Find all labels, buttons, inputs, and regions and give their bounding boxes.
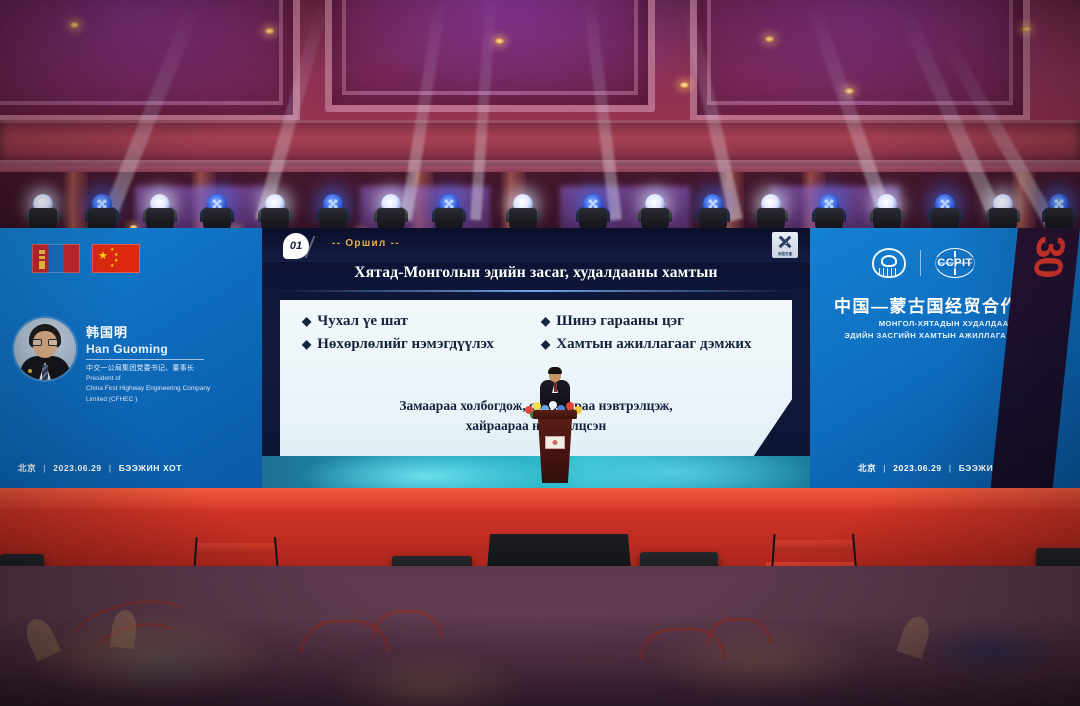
ceiling-coffer <box>0 0 300 122</box>
slide-header: 01 -- Оршил -- 中国交建 <box>262 228 810 262</box>
bullet-label: Хамтын ажиллагааг дэмжих <box>556 335 751 354</box>
conference-stage-photo: ★ ★ ★ ★ ★ 韩国明 <box>0 0 1080 706</box>
diamond-icon: ◆ <box>302 335 311 354</box>
left-datebar: 北京 | 2023.06.29 | БЭЭЖИН ХОТ <box>18 462 182 474</box>
speaker-avatar <box>14 318 76 380</box>
moving-head-light-row <box>0 182 1080 230</box>
glasses-icon <box>32 339 58 346</box>
datebar-separator: | <box>883 463 886 473</box>
bullet-item: ◆ Хамтын ажиллагааг дэмжих <box>541 335 770 354</box>
speaker-portrait-block: 韩国明 Han Guoming 中交一公局集团党委书记、董事长 Presiden… <box>14 318 210 404</box>
cccc-logo-icon: 中国交建 <box>772 232 798 258</box>
speaker-name-en: Han Guoming <box>86 342 210 356</box>
speaker-title-en-1: President of <box>86 374 210 383</box>
title-underline <box>276 290 796 292</box>
ceiling-coffer <box>690 0 1030 122</box>
logo-divider <box>920 250 921 276</box>
speaker-title-cn: 中交一公局集团党委书记、董事长 <box>86 363 210 373</box>
section-kicker: -- Оршил -- <box>332 238 400 249</box>
podium-emblem-plaque <box>545 436 565 449</box>
bullet-label: Чухал үе шат <box>317 312 408 331</box>
datebar-city-cn: 北京 <box>858 462 876 474</box>
datebar-city-mn: БЭЭЖИН ХОТ <box>119 463 182 473</box>
speaker-title-en-2: China First Highway Engineering Company <box>86 384 210 393</box>
datebar-separator: | <box>43 463 46 473</box>
speaker-title-en-3: Limited (CFHEC ) <box>86 395 210 404</box>
diamond-icon: ◆ <box>302 312 311 331</box>
datebar-date: 2023.06.29 <box>53 463 102 473</box>
ccpit-wordmark: CCPIT <box>935 257 975 269</box>
datebar-city-cn: 北京 <box>18 462 36 474</box>
panel-edge-decoration: 30 <box>990 228 1080 490</box>
slide-title: Хятад-Монголын эдийн засаг, худалдааны х… <box>262 264 810 282</box>
china-flag-icon: ★ ★ ★ ★ ★ <box>92 244 140 273</box>
bullet-list: ◆ Чухал үе шат ◆ Шинэ гарааны цэг ◆ Нөхө… <box>302 312 770 354</box>
flag-pair: ★ ★ ★ ★ ★ <box>32 244 140 273</box>
speaking-podium <box>533 394 577 500</box>
divider <box>86 359 204 360</box>
bullet-item: ◆ Нөхөрлөлийг нэмэгдүүлэх <box>302 335 531 354</box>
bullet-item: ◆ Шинэ гарааны цэг <box>541 312 770 331</box>
diamond-icon: ◆ <box>541 335 550 354</box>
ballroom-carpet <box>0 566 1080 706</box>
datebar-date: 2023.06.29 <box>893 463 942 473</box>
ceiling-coffer <box>325 0 655 112</box>
diamond-icon: ◆ <box>541 312 550 331</box>
datebar-separator: | <box>949 463 952 473</box>
bullet-label: Шинэ гарааны цэг <box>556 312 684 331</box>
organizer-logos: CCPIT <box>872 248 975 278</box>
edge-red-number: 30 <box>1024 236 1073 277</box>
ccpit-seal-icon <box>872 248 906 278</box>
ccpit-globe-icon: CCPIT <box>935 248 975 278</box>
forum-branding-panel: CCPIT 中国—蒙古国经贸合作论坛 МОНГОЛ-ХЯТАДЫН ХУДАЛД… <box>810 228 1080 490</box>
speaker-id-panel: ★ ★ ★ ★ ★ 韩国明 <box>0 228 262 490</box>
bullet-label: Нөхөрлөлийг нэмэгдүүлэх <box>317 335 494 354</box>
datebar-separator: | <box>109 463 112 473</box>
speaker-name-cn: 韩国明 <box>86 322 210 341</box>
cccc-logo-text: 中国交建 <box>778 251 792 256</box>
lapel-pin-icon <box>28 369 32 373</box>
bullet-item: ◆ Чухал үе шат <box>302 312 531 331</box>
mongolia-flag-icon <box>32 244 80 273</box>
